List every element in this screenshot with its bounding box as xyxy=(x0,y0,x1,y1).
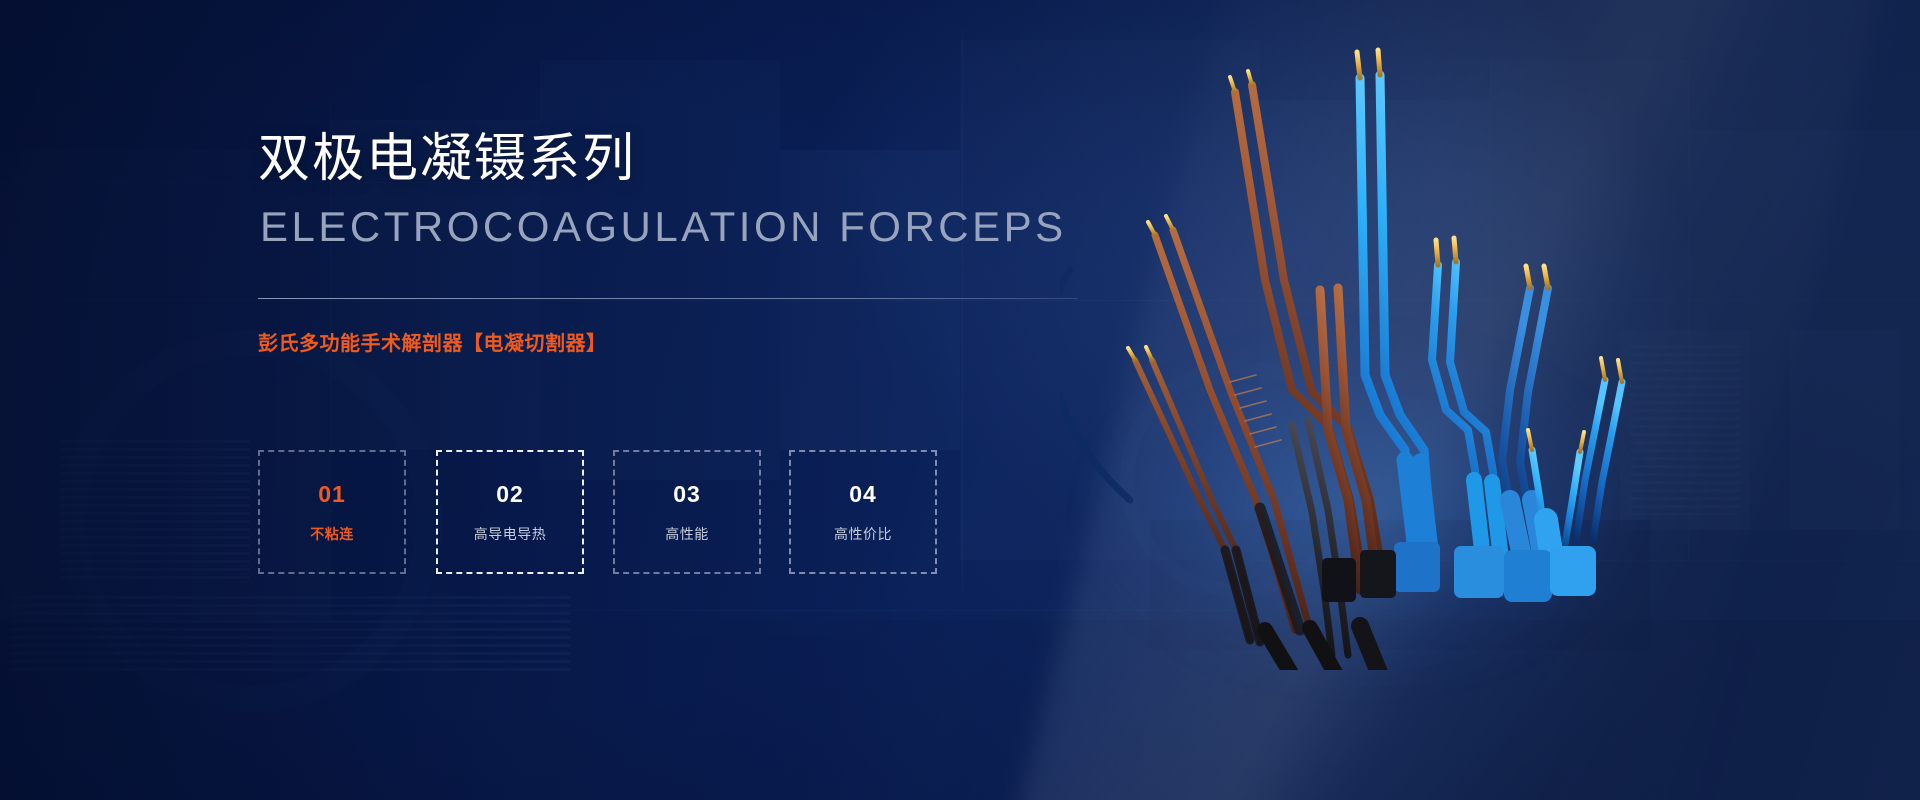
product-banner: 双极电凝镊系列 ELECTROCOAGULATION FORCEPS 彭氏多功能… xyxy=(0,0,1920,800)
feature-card-04[interactable]: 04 高性价比 xyxy=(789,450,937,574)
page-subtitle-en: ELECTROCOAGULATION FORCEPS xyxy=(260,206,1067,248)
feature-label: 高性能 xyxy=(665,527,709,541)
feature-number: 03 xyxy=(673,483,701,506)
feature-card-03[interactable]: 03 高性能 xyxy=(613,450,761,574)
feature-label: 不粘连 xyxy=(310,527,354,541)
feature-card-02[interactable]: 02 高导电导热 xyxy=(436,450,584,574)
feature-number: 04 xyxy=(849,483,877,506)
product-tagline: 彭氏多功能手术解剖器【电凝切割器】 xyxy=(258,334,607,354)
banner-content: 双极电凝镊系列 ELECTROCOAGULATION FORCEPS 彭氏多功能… xyxy=(258,0,1138,800)
bipolar-forceps-illustration xyxy=(1060,30,1700,670)
feature-label: 高性价比 xyxy=(834,527,892,541)
divider xyxy=(258,298,1078,299)
page-title: 双极电凝镊系列 xyxy=(258,133,636,185)
feature-number: 02 xyxy=(496,483,524,506)
feature-label: 高导电导热 xyxy=(474,527,547,541)
feature-card-01[interactable]: 01 不粘连 xyxy=(258,450,406,574)
feature-number: 01 xyxy=(318,483,346,506)
